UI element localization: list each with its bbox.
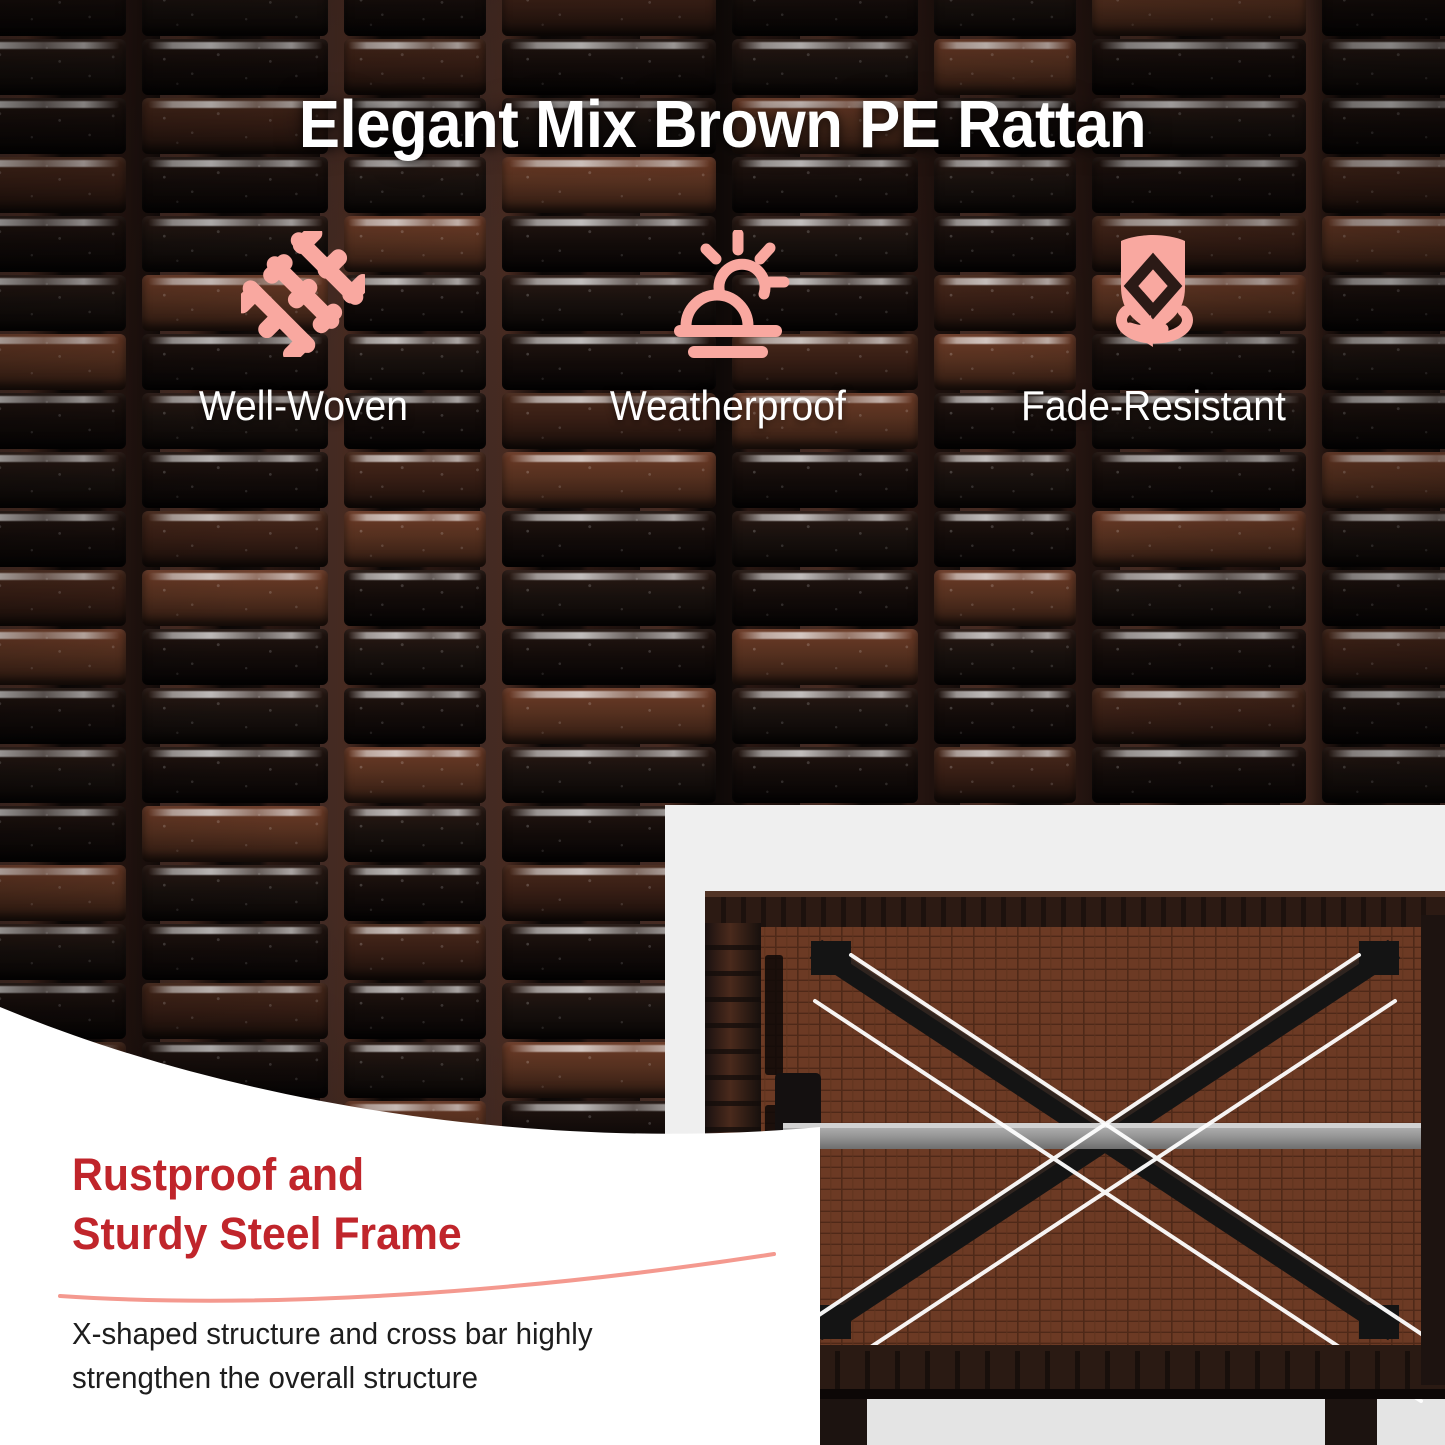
rattan-strand xyxy=(0,865,126,921)
rattan-strand xyxy=(934,570,1076,626)
rattan-strand xyxy=(344,157,486,213)
product-feature-graphic: Elegant Mix Brown PE Rattan xyxy=(0,0,1445,1445)
rattan-strand xyxy=(934,629,1076,685)
rattan-strand xyxy=(0,1042,126,1098)
rattan-strand-row xyxy=(0,157,1445,213)
rattan-strand xyxy=(934,0,1076,36)
rattan-strand xyxy=(732,0,918,36)
rattan-strand xyxy=(502,157,716,213)
rattan-strand xyxy=(1092,157,1306,213)
feature-item-weatherproof: Weatherproof xyxy=(533,228,923,430)
rattan-strand xyxy=(142,865,328,921)
rattan-strand xyxy=(1092,452,1306,508)
rattan-strand xyxy=(732,452,918,508)
rattan-strand xyxy=(142,629,328,685)
rattan-strand xyxy=(344,511,486,567)
rattan-strand-row xyxy=(0,747,1445,803)
rattan-strand xyxy=(1092,0,1306,36)
rattan-strand xyxy=(502,0,716,36)
rattan-strand xyxy=(502,747,716,803)
rattan-strand xyxy=(0,629,126,685)
rattan-strand xyxy=(344,688,486,744)
rattan-strand-row xyxy=(0,688,1445,744)
rattan-strand xyxy=(344,747,486,803)
rattan-strand xyxy=(1322,570,1445,626)
rattan-strand xyxy=(0,452,126,508)
rattan-strand xyxy=(934,511,1076,567)
rattan-strand xyxy=(142,157,328,213)
rattan-strand xyxy=(344,570,486,626)
rattan-strand xyxy=(344,924,486,980)
rattan-strand xyxy=(0,511,126,567)
rattan-strand xyxy=(1322,511,1445,567)
rattan-strand xyxy=(1322,629,1445,685)
rattan-strand xyxy=(142,570,328,626)
rattan-strand xyxy=(1322,747,1445,803)
rattan-strand xyxy=(732,688,918,744)
rattan-strand xyxy=(934,157,1076,213)
rattan-strand xyxy=(1092,570,1306,626)
rattan-strand xyxy=(344,1042,486,1098)
rattan-strand xyxy=(0,0,126,36)
rattan-strand xyxy=(344,0,486,36)
rattan-strand xyxy=(1092,747,1306,803)
steel-frame-detail-photo xyxy=(665,805,1445,1445)
rattan-strand xyxy=(142,1396,328,1445)
rattan-strand-row xyxy=(0,511,1445,567)
rattan-strand xyxy=(142,983,328,1039)
rattan-strand xyxy=(934,747,1076,803)
rattan-strand xyxy=(732,747,918,803)
rattan-strand xyxy=(732,157,918,213)
rattan-strand xyxy=(0,747,126,803)
rattan-strand xyxy=(732,570,918,626)
rattan-strand xyxy=(1092,688,1306,744)
pink-divider-line xyxy=(58,1252,778,1312)
rattan-strand xyxy=(1092,511,1306,567)
shield-refresh-icon xyxy=(1091,228,1215,360)
rattan-strand xyxy=(344,806,486,862)
rattan-strand xyxy=(344,983,486,1039)
rattan-strand xyxy=(502,688,716,744)
bottom-heading-block: Rustproof and Sturdy Steel Frame xyxy=(72,1145,712,1264)
rattan-strand xyxy=(1322,157,1445,213)
rattan-strand xyxy=(502,511,716,567)
rattan-strand xyxy=(0,570,126,626)
rattan-strand xyxy=(1322,0,1445,36)
rattan-strand xyxy=(142,747,328,803)
feature-row: Well-Woven xyxy=(108,228,1348,430)
rattan-strand xyxy=(502,452,716,508)
rattan-strand xyxy=(934,452,1076,508)
rattan-strand xyxy=(502,570,716,626)
bottom-body-text: X-shaped structure and cross bar highly … xyxy=(72,1312,661,1400)
feature-label: Fade-Resistant xyxy=(1021,382,1286,430)
page-title: Elegant Mix Brown PE Rattan xyxy=(58,86,1387,163)
rattan-strand xyxy=(344,1396,486,1445)
rattan-strand xyxy=(1092,629,1306,685)
woven-lattice-icon xyxy=(241,228,365,360)
rattan-strand xyxy=(1322,688,1445,744)
rattan-strand xyxy=(502,629,716,685)
feature-label: Weatherproof xyxy=(610,382,846,430)
rattan-strand-row xyxy=(0,570,1445,626)
rattan-strand xyxy=(732,629,918,685)
bottom-heading-line-1: Rustproof and xyxy=(72,1145,680,1204)
rattan-strand xyxy=(344,452,486,508)
rattan-strand xyxy=(142,0,328,36)
rattan-strand xyxy=(142,1042,328,1098)
rattan-strand xyxy=(0,983,126,1039)
rattan-strand xyxy=(142,452,328,508)
rattan-strand xyxy=(0,806,126,862)
rattan-strand xyxy=(142,511,328,567)
feature-label: Well-Woven xyxy=(198,382,407,430)
rattan-strand xyxy=(1322,452,1445,508)
rattan-strand xyxy=(0,1396,126,1445)
rattan-strand xyxy=(142,688,328,744)
rattan-strand xyxy=(344,629,486,685)
rattan-strand-row xyxy=(0,452,1445,508)
rattan-strand-row xyxy=(0,629,1445,685)
rattan-strand xyxy=(142,806,328,862)
sun-cloud-icon xyxy=(660,228,796,360)
rattan-strand-row xyxy=(0,0,1445,36)
rattan-strand xyxy=(0,157,126,213)
rattan-strand xyxy=(732,511,918,567)
rattan-strand xyxy=(344,865,486,921)
rattan-strand xyxy=(0,688,126,744)
feature-item-well-woven: Well-Woven xyxy=(108,228,498,430)
rattan-strand xyxy=(934,688,1076,744)
rattan-strand xyxy=(0,924,126,980)
feature-item-fade-resistant: Fade-Resistant xyxy=(958,228,1348,430)
rattan-strand xyxy=(142,924,328,980)
